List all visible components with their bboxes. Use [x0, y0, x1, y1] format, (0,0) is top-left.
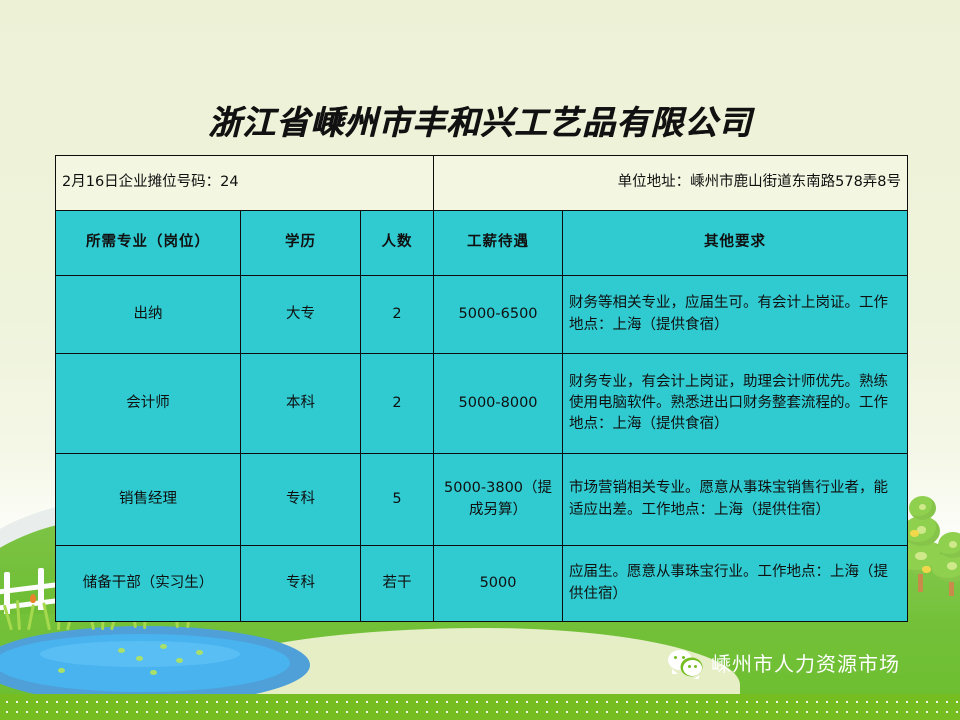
column-header-position: 所需专业（岗位）	[56, 211, 241, 276]
column-header-requirements: 其他要求	[563, 211, 908, 276]
job-listing-table: 2月16日企业摊位号码：24 单位地址：嵊州市鹿山街道东南路578弄8号 所需专…	[55, 155, 908, 622]
cell-salary: 5000	[434, 546, 563, 622]
cell-count: 5	[361, 454, 434, 546]
cell-count: 若干	[361, 546, 434, 622]
cell-education: 大专	[241, 276, 361, 354]
table-meta-row: 2月16日企业摊位号码：24 单位地址：嵊州市鹿山街道东南路578弄8号	[56, 156, 908, 211]
wechat-account-badge[interactable]: 嵊州市人力资源市场	[668, 648, 900, 677]
table-row: 会计师 本科 2 5000-8000 财务专业，有会计上岗证，助理会计师优先。熟…	[56, 354, 908, 454]
cell-position: 储备干部（实习生）	[56, 546, 241, 622]
page-title: 浙江省嵊州市丰和兴工艺品有限公司	[0, 96, 960, 144]
cell-requirements: 市场营销相关专业。愿意从事珠宝销售行业者，能适应出差。工作地点：上海（提供住宿）	[563, 454, 908, 546]
column-header-education: 学历	[241, 211, 361, 276]
table-row: 出纳 大专 2 5000-6500 财务等相关专业，应届生可。有会计上岗证。工作…	[56, 276, 908, 354]
wechat-icon	[668, 650, 702, 676]
cell-salary: 5000-8000	[434, 354, 563, 454]
wechat-account-name: 嵊州市人力资源市场	[711, 648, 900, 677]
cell-requirements: 应届生。愿意从事珠宝行业。工作地点：上海（提供住宿）	[563, 546, 908, 622]
cell-position: 会计师	[56, 354, 241, 454]
cell-requirements: 财务等相关专业，应届生可。有会计上岗证。工作地点：上海（提供食宿）	[563, 276, 908, 354]
company-address: 单位地址：嵊州市鹿山街道东南路578弄8号	[434, 156, 908, 211]
cell-salary: 5000-3800（提成另算）	[434, 454, 563, 546]
table-row: 储备干部（实习生） 专科 若干 5000 应届生。愿意从事珠宝行业。工作地点：上…	[56, 546, 908, 622]
cell-position: 销售经理	[56, 454, 241, 546]
cell-count: 2	[361, 354, 434, 454]
cell-education: 专科	[241, 454, 361, 546]
cell-education: 本科	[241, 354, 361, 454]
table-row: 销售经理 专科 5 5000-3800（提成另算） 市场营销相关专业。愿意从事珠…	[56, 454, 908, 546]
column-header-count: 人数	[361, 211, 434, 276]
cell-education: 专科	[241, 546, 361, 622]
cell-position: 出纳	[56, 276, 241, 354]
booth-number: 2月16日企业摊位号码：24	[56, 156, 434, 211]
column-header-salary: 工薪待遇	[434, 211, 563, 276]
cell-requirements: 财务专业，有会计上岗证，助理会计师优先。熟练使用电脑软件。熟悉进出口财务整套流程…	[563, 354, 908, 454]
cell-salary: 5000-6500	[434, 276, 563, 354]
cell-count: 2	[361, 276, 434, 354]
table-header-row: 所需专业（岗位） 学历 人数 工薪待遇 其他要求	[56, 211, 908, 276]
